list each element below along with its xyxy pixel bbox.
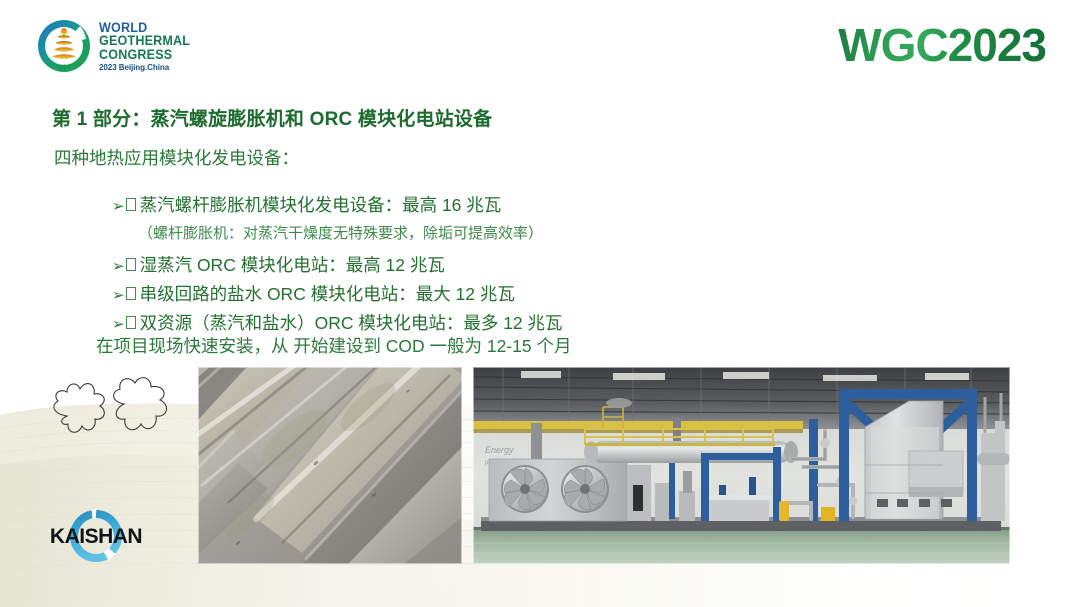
box-glyph-icon xyxy=(126,287,136,300)
bullet-text: 蒸汽螺杆膨胀机模块化发电设备：最高 16 兆瓦 xyxy=(140,192,502,217)
page-title: 第 1 部分：蒸汽螺旋膨胀机和 ORC 模块化电站设备 xyxy=(52,104,492,131)
wgc2023-wordmark: WGC2023 xyxy=(838,18,1046,72)
wgc-logo-line3: CONGRESS xyxy=(99,48,190,62)
kaishan-logo-text: KAISHAN xyxy=(50,525,142,548)
box-glyph-icon xyxy=(126,316,136,329)
svg-text:WGC: WGC xyxy=(58,65,71,71)
wgc-logo-subtitle: 2023 Beijing.China xyxy=(99,63,192,72)
bullet-text: 串级回路的盐水 ORC 模块化电站：最大 12 兆瓦 xyxy=(140,281,515,306)
slide-root: WGC WORLD GEOTHERMAL CONGRESS 2023 Beiji… xyxy=(0,0,1080,607)
arrow-bullet-icon: ➢ xyxy=(112,317,125,332)
photo-screw-rotor xyxy=(198,367,462,564)
blob-outline-shapes xyxy=(34,372,184,477)
box-glyph-icon xyxy=(126,258,136,271)
list-item: ➢ 蒸汽螺杆膨胀机模块化发电设备：最高 16 兆瓦 （螺杆膨胀机：对蒸汽干燥度无… xyxy=(112,192,1012,243)
arrow-bullet-icon: ➢ xyxy=(112,259,125,274)
list-item: ➢ 双资源（蒸汽和盐水）ORC 模块化电站：最多 12 兆瓦 xyxy=(112,310,1012,335)
wgc-logo-text: WORLD GEOTHERMAL CONGRESS 2023 Beijing.C… xyxy=(99,21,197,72)
wgc-congress-logo: WGC WORLD GEOTHERMAL CONGRESS 2023 Beiji… xyxy=(34,12,179,80)
wgc-ring-pagoda-icon: WGC xyxy=(34,16,94,76)
bullet-note: （螺杆膨胀机：对蒸汽干燥度无特殊要求，除垢可提高效率） xyxy=(138,222,1012,243)
arrow-bullet-icon: ➢ xyxy=(112,199,125,214)
photo-orc-modular-power-plant: Energy ph-cn.com xyxy=(473,367,1010,564)
arrow-bullet-icon: ➢ xyxy=(112,288,125,303)
wgc-logo-line1: WORLD xyxy=(99,21,190,35)
bullet-list: ➢ 蒸汽螺杆膨胀机模块化发电设备：最高 16 兆瓦 （螺杆膨胀机：对蒸汽干燥度无… xyxy=(112,192,1012,335)
bullet-text: 双资源（蒸汽和盐水）ORC 模块化电站：最多 12 兆瓦 xyxy=(140,310,563,335)
lead-text: 四种地热应用模块化发电设备： xyxy=(54,145,299,170)
list-item: ➢ 串级回路的盐水 ORC 模块化电站：最大 12 兆瓦 xyxy=(112,281,1012,306)
bullet-text: 湿蒸汽 ORC 模块化电站：最高 12 兆瓦 xyxy=(140,252,445,277)
list-item: ➢ 湿蒸汽 ORC 模块化电站：最高 12 兆瓦 xyxy=(112,252,1012,277)
closing-text: 在项目现场快速安装，从 开始建设到 COD 一般为 12-15 个月 xyxy=(96,333,571,358)
box-glyph-icon xyxy=(126,198,136,211)
wgc-logo-line2: GEOTHERMAL xyxy=(99,34,190,48)
kaishan-logo: KAISHAN xyxy=(34,506,159,568)
